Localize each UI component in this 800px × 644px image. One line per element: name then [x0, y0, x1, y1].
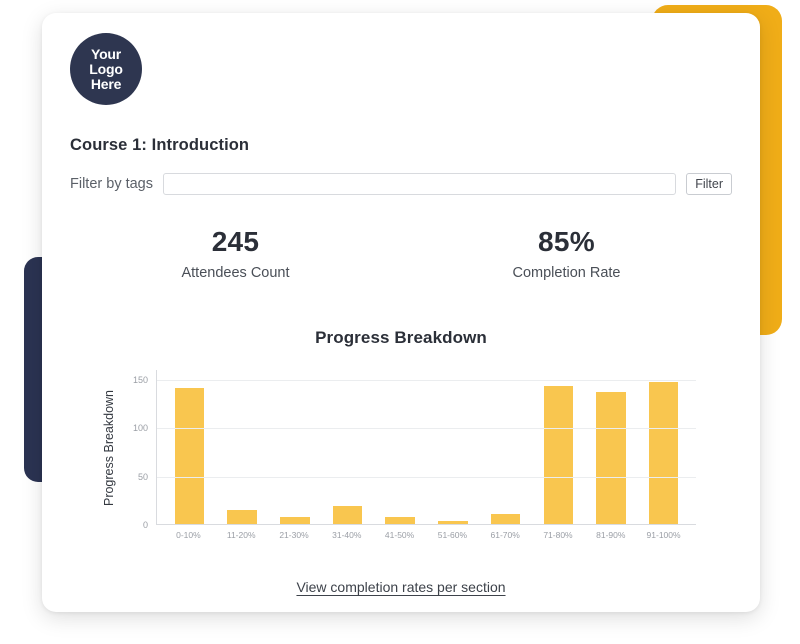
- view-completion-rates-link[interactable]: View completion rates per section: [296, 579, 505, 595]
- chart-gridline: [157, 380, 696, 381]
- chart-plot-area: [156, 370, 696, 525]
- chart-bar[interactable]: [280, 517, 310, 524]
- chart-x-tick-label: 0-10%: [162, 530, 215, 540]
- chart-y-tick-label: 150: [133, 375, 148, 385]
- chart-bar[interactable]: [544, 386, 574, 524]
- chart-bar-cell: [374, 370, 427, 524]
- chart-bar-cell: [479, 370, 532, 524]
- chart-bar[interactable]: [491, 514, 521, 524]
- stat-attendees-count: 245 Attendees Count: [70, 226, 401, 281]
- chart-bar-cell: [532, 370, 585, 524]
- filter-tags-input[interactable]: [163, 173, 676, 195]
- stat-value: 245: [70, 226, 401, 258]
- chart-x-tick-label: 41-50%: [373, 530, 426, 540]
- chart-bar-cell: [216, 370, 269, 524]
- chart-y-tick-label: 0: [143, 520, 148, 530]
- chart-x-tick-label: 91-100%: [637, 530, 690, 540]
- dashboard-card: Your Logo Here Course 1: Introduction Fi…: [42, 13, 760, 612]
- logo-line-3: Here: [91, 77, 121, 92]
- chart-x-tick-label: 61-70%: [479, 530, 532, 540]
- filter-button[interactable]: Filter: [686, 173, 732, 195]
- chart-bar-cell: [163, 370, 216, 524]
- chart-bar-cell: [585, 370, 638, 524]
- chart-title: Progress Breakdown: [70, 328, 732, 348]
- screen-root: Your Logo Here Course 1: Introduction Fi…: [0, 0, 800, 644]
- page-title: Course 1: Introduction: [70, 136, 732, 155]
- chart-y-axis-title: Progress Breakdown: [100, 370, 118, 525]
- logo-line-2: Logo: [89, 62, 122, 77]
- chart-bar[interactable]: [227, 510, 257, 524]
- stats-row: 245 Attendees Count 85% Completion Rate: [70, 226, 732, 281]
- chart-bar[interactable]: [649, 382, 679, 524]
- filter-label: Filter by tags: [70, 176, 153, 192]
- chart-bar-cell: [637, 370, 690, 524]
- chart-y-tick-label: 50: [138, 472, 148, 482]
- chart-bars: [157, 370, 696, 524]
- chart-y-ticks: 050100150: [122, 370, 152, 525]
- chart-bar[interactable]: [333, 506, 363, 524]
- chart-bar[interactable]: [438, 521, 468, 524]
- logo: Your Logo Here: [70, 33, 142, 105]
- stat-label: Attendees Count: [70, 265, 401, 281]
- chart-x-tick-label: 81-90%: [584, 530, 637, 540]
- chart-bar[interactable]: [385, 517, 415, 524]
- chart-y-tick-label: 100: [133, 423, 148, 433]
- chart-x-tick-labels: 0-10%11-20%21-30%31-40%41-50%51-60%61-70…: [156, 530, 696, 540]
- chart-bar-cell: [268, 370, 321, 524]
- chart-bar[interactable]: [175, 388, 205, 524]
- chart-x-tick-label: 31-40%: [320, 530, 373, 540]
- chart-x-tick-label: 51-60%: [426, 530, 479, 540]
- chart-x-tick-label: 21-30%: [268, 530, 321, 540]
- chart-x-tick-label: 11-20%: [215, 530, 268, 540]
- chart-bar-cell: [427, 370, 480, 524]
- chart-bar[interactable]: [596, 392, 626, 524]
- footer-link-wrap: View completion rates per section: [70, 579, 732, 597]
- chart-gridline: [157, 428, 696, 429]
- chart-y-axis-title-text: Progress Breakdown: [102, 389, 116, 505]
- filter-row: Filter by tags Filter: [70, 173, 732, 195]
- chart-x-tick-label: 71-80%: [532, 530, 585, 540]
- chart-bar-cell: [321, 370, 374, 524]
- logo-line-1: Your: [91, 47, 121, 62]
- stat-completion-rate: 85% Completion Rate: [401, 226, 732, 281]
- stat-label: Completion Rate: [401, 265, 732, 281]
- chart-gridline: [157, 477, 696, 478]
- stat-value: 85%: [401, 226, 732, 258]
- progress-breakdown-chart: Progress Breakdown 050100150 0-10%11-20%…: [106, 370, 696, 545]
